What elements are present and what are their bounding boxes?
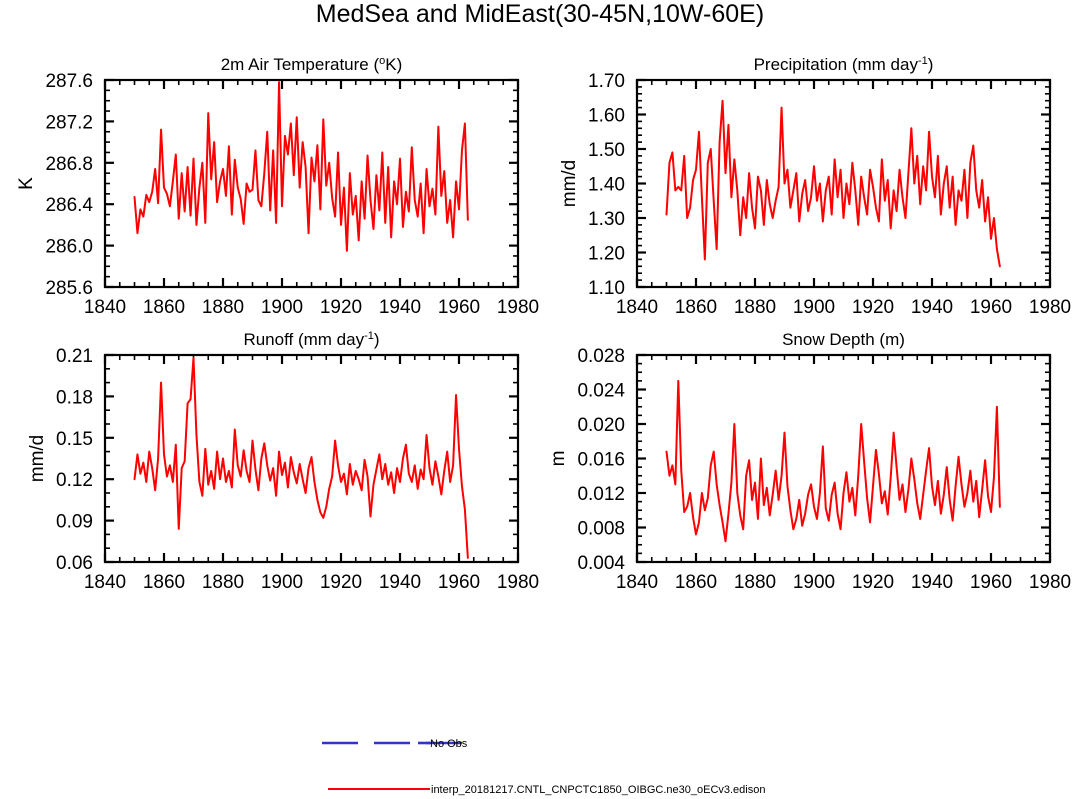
y-tick-label: 0.024 <box>577 381 625 402</box>
x-tick-label: 1860 <box>675 572 717 593</box>
x-tick-label: 1900 <box>793 572 835 593</box>
x-tick-label: 1840 <box>84 572 126 593</box>
x-tick-label: 1920 <box>320 297 362 318</box>
y-tick-label: 0.06 <box>56 553 93 574</box>
x-tick-label: 1900 <box>261 297 303 318</box>
x-tick-label: 1960 <box>438 297 480 318</box>
panel-title: Runoff (mm day-1) <box>243 330 379 349</box>
legend-label-model-run: interp_20181217.CNTL_CNPCTC1850_OIBGC.ne… <box>431 784 765 796</box>
y-tick-label: 1.30 <box>588 209 625 230</box>
y-axis-label: m <box>548 451 569 467</box>
x-tick-label: 1880 <box>734 572 776 593</box>
y-tick-label: 1.70 <box>588 71 625 92</box>
x-tick-label: 1940 <box>911 572 953 593</box>
x-tick-label: 1920 <box>852 297 894 318</box>
legend-label-no-obs: No Obs <box>430 738 468 750</box>
y-tick-label: 0.008 <box>577 519 625 540</box>
x-tick-label: 1980 <box>497 297 539 318</box>
x-tick-label: 1900 <box>793 297 835 318</box>
y-tick-label: 287.2 <box>45 112 93 133</box>
x-tick-label: 1940 <box>911 297 953 318</box>
y-tick-label: 1.50 <box>588 140 625 161</box>
x-tick-label: 1960 <box>970 572 1012 593</box>
y-tick-label: 286.4 <box>45 195 93 216</box>
x-tick-label: 1860 <box>143 572 185 593</box>
y-tick-label: 285.6 <box>45 278 93 299</box>
panel-title: Snow Depth (m) <box>782 330 905 349</box>
x-tick-label: 1940 <box>379 297 421 318</box>
panel-title: 2m Air Temperature (oK) <box>221 55 403 74</box>
x-tick-label: 1880 <box>202 297 244 318</box>
y-tick-label: 1.20 <box>588 244 625 265</box>
y-tick-label: 0.09 <box>56 512 93 533</box>
x-tick-label: 1960 <box>970 297 1012 318</box>
x-tick-label: 1980 <box>497 572 539 593</box>
x-tick-label: 1940 <box>379 572 421 593</box>
y-tick-label: 0.12 <box>56 470 93 491</box>
x-tick-label: 1840 <box>616 572 658 593</box>
y-tick-label: 286.8 <box>45 154 93 175</box>
x-tick-label: 1980 <box>1029 297 1071 318</box>
x-tick-label: 1900 <box>261 572 303 593</box>
y-tick-label: 0.016 <box>577 450 625 471</box>
y-axis-label: K <box>16 177 37 190</box>
panel-title: Precipitation (mm day-1) <box>754 55 934 74</box>
y-tick-label: 0.020 <box>577 415 625 436</box>
y-tick-label: 0.18 <box>56 387 93 408</box>
x-tick-label: 1960 <box>438 572 480 593</box>
x-tick-label: 1840 <box>616 297 658 318</box>
y-tick-label: 1.40 <box>588 175 625 196</box>
y-tick-label: 0.21 <box>56 346 93 367</box>
x-tick-label: 1920 <box>320 572 362 593</box>
x-tick-label: 1920 <box>852 572 894 593</box>
x-tick-label: 1840 <box>84 297 126 318</box>
y-tick-label: 0.028 <box>577 346 625 367</box>
y-tick-label: 0.15 <box>56 429 93 450</box>
y-tick-label: 0.004 <box>577 553 625 574</box>
figure-canvas: MedSea and MidEast(30-45N,10W-60E) 2m Ai… <box>0 0 1080 799</box>
x-tick-label: 1860 <box>675 297 717 318</box>
figure-title: MedSea and MidEast(30-45N,10W-60E) <box>316 0 764 28</box>
y-tick-label: 286.0 <box>45 237 93 258</box>
x-tick-label: 1880 <box>202 572 244 593</box>
y-tick-label: 287.6 <box>45 71 93 92</box>
y-tick-label: 0.012 <box>577 484 625 505</box>
y-tick-label: 1.60 <box>588 106 625 127</box>
x-tick-label: 1880 <box>734 297 776 318</box>
y-axis-label: mm/d <box>27 435 48 483</box>
x-tick-label: 1860 <box>143 297 185 318</box>
y-axis-label: mm/d <box>559 160 580 208</box>
y-tick-label: 1.10 <box>588 278 625 299</box>
x-tick-label: 1980 <box>1029 572 1071 593</box>
